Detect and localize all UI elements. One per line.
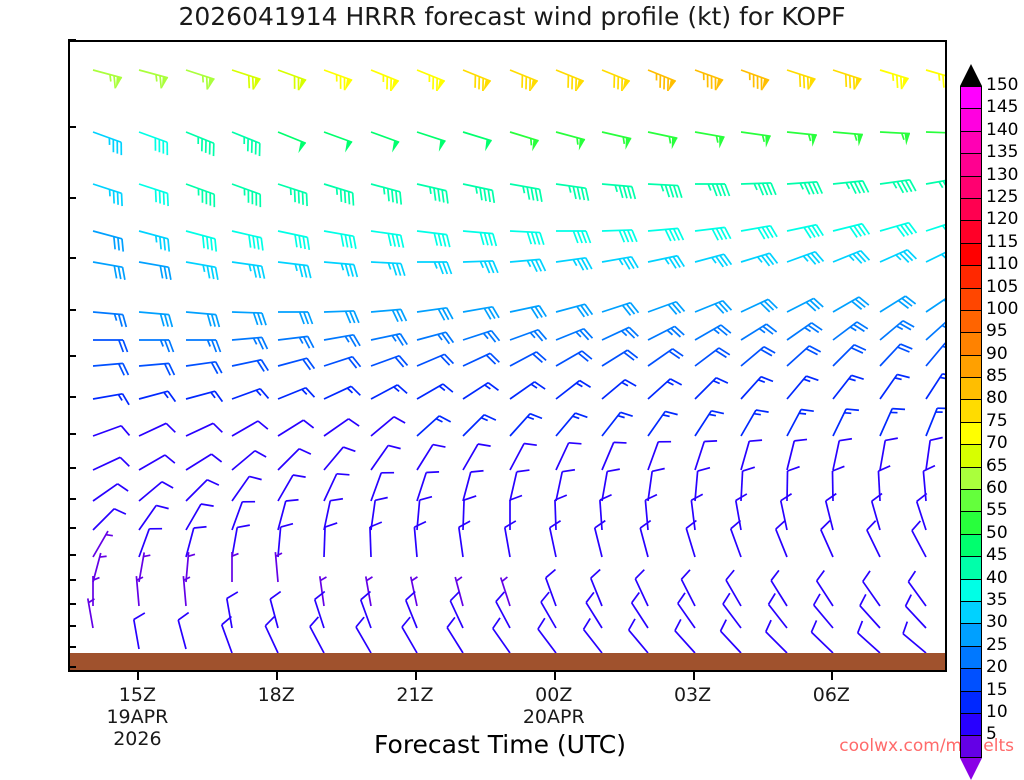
legend-color-cell: 10 [960, 713, 982, 735]
legend-color-cell: 70 [960, 444, 982, 466]
legend-color-cell: 85 [960, 377, 982, 399]
y-tick-mark [68, 467, 76, 469]
legend-color-cell: 110 [960, 265, 982, 287]
legend-color-cell: 95 [960, 332, 982, 354]
legend-color-cell: 130 [960, 176, 982, 198]
legend-color-cell: 20 [960, 668, 982, 690]
legend-color-cell: 120 [960, 220, 982, 242]
legend-tick-label: 85 [986, 368, 1008, 385]
y-tick-mark [68, 197, 76, 199]
legend-color-cell: 45 [960, 556, 982, 578]
x-tick-year-label: 2026 [113, 728, 161, 750]
x-tick-mark [554, 672, 556, 680]
legend-color-cell: 60 [960, 489, 982, 511]
legend-color-cell: 55 [960, 511, 982, 533]
legend-tick-label: 10 [986, 704, 1008, 721]
y-tick-mark [68, 579, 76, 581]
legend-tick-label: 30 [986, 614, 1008, 631]
terrain-band [70, 653, 945, 670]
x-tick-mark [693, 672, 695, 680]
x-tick-label: 21Z [396, 684, 433, 706]
legend-tick-label: 55 [986, 502, 1008, 519]
legend-color-cell: 140 [960, 131, 982, 153]
x-tick-label: 03Z [674, 684, 711, 706]
legend-tick-label: 20 [986, 659, 1008, 676]
x-tick-label: 06Z [813, 684, 850, 706]
y-tick-mark [68, 39, 76, 41]
y-tick-mark [68, 396, 76, 398]
color-legend: 1501451401351301251201151101051009590858… [960, 86, 982, 758]
legend-tick-label: 115 [986, 234, 1018, 251]
legend-color-cell: 135 [960, 153, 982, 175]
x-tick-label: 15Z [119, 684, 156, 706]
legend-color-cell: 115 [960, 243, 982, 265]
legend-color-cell: 25 [960, 646, 982, 668]
legend-color-cell: 50 [960, 534, 982, 556]
y-tick-mark [68, 433, 76, 435]
legend-color-cell: 80 [960, 399, 982, 421]
legend-tick-label: 40 [986, 570, 1008, 587]
x-tick-label: 18Z [258, 684, 295, 706]
legend-color-cell: 75 [960, 422, 982, 444]
legend-color-cell: 15 [960, 691, 982, 713]
y-tick-mark [68, 666, 76, 668]
x-tick-mark [415, 672, 417, 680]
y-tick-mark [68, 527, 76, 529]
legend-arrow-bottom-icon [960, 758, 982, 780]
legend-color-cell: 30 [960, 623, 982, 645]
legend-color-cell: 90 [960, 355, 982, 377]
legend-tick-label: 125 [986, 189, 1018, 206]
legend-tick-label: 110 [986, 256, 1018, 273]
legend-tick-label: 95 [986, 323, 1008, 340]
x-tick-date-label: 20APR [523, 706, 585, 728]
page-title: 2026041914 HRRR forecast wind profile (k… [0, 2, 1024, 31]
legend-tick-label: 150 [986, 77, 1018, 94]
y-tick-mark [68, 625, 76, 627]
wind-profile-plot [68, 40, 947, 672]
legend-tick-label: 90 [986, 346, 1008, 363]
legend-color-cell: 145 [960, 108, 982, 130]
legend-tick-label: 5 [986, 726, 997, 743]
legend-tick-label: 130 [986, 167, 1018, 184]
legend-tick-label: 45 [986, 547, 1008, 564]
y-tick-mark [68, 498, 76, 500]
x-tick-date-label: 19APR [106, 706, 168, 728]
legend-tick-label: 120 [986, 211, 1018, 228]
legend-tick-label: 65 [986, 458, 1008, 475]
legend-tick-label: 105 [986, 279, 1018, 296]
legend-tick-label: 140 [986, 122, 1018, 139]
legend-color-cell: 100 [960, 310, 982, 332]
legend-tick-label: 135 [986, 144, 1018, 161]
y-tick-mark [68, 554, 76, 556]
legend-color-cell: 150 [960, 86, 982, 108]
legend-tick-label: 50 [986, 525, 1008, 542]
x-axis-title: Forecast Time (UTC) [250, 730, 750, 759]
legend-arrow-top-icon [960, 64, 982, 86]
y-tick-mark [68, 309, 76, 311]
x-tick-mark [276, 672, 278, 680]
legend-tick-label: 100 [986, 301, 1018, 318]
y-tick-mark [68, 257, 76, 259]
legend-tick-label: 15 [986, 682, 1008, 699]
legend-color-cell: 105 [960, 288, 982, 310]
legend-color-cell: 40 [960, 579, 982, 601]
legend-color-cell: 35 [960, 601, 982, 623]
legend-tick-label: 80 [986, 390, 1008, 407]
y-tick-mark [68, 126, 76, 128]
y-tick-mark [68, 603, 76, 605]
legend-tick-label: 70 [986, 435, 1008, 452]
x-tick-mark [137, 672, 139, 680]
legend-color-cell: 65 [960, 467, 982, 489]
x-tick-mark [831, 672, 833, 680]
legend-tick-label: 145 [986, 99, 1018, 116]
legend-tick-label: 25 [986, 637, 1008, 654]
legend-color-cell: 5 [960, 735, 982, 757]
y-tick-mark [68, 355, 76, 357]
y-tick-mark [68, 646, 76, 648]
x-tick-label: 00Z [535, 684, 572, 706]
legend-tick-label: 35 [986, 592, 1008, 609]
legend-tick-label: 60 [986, 480, 1008, 497]
legend-tick-label: 75 [986, 413, 1008, 430]
legend-color-cell: 125 [960, 198, 982, 220]
